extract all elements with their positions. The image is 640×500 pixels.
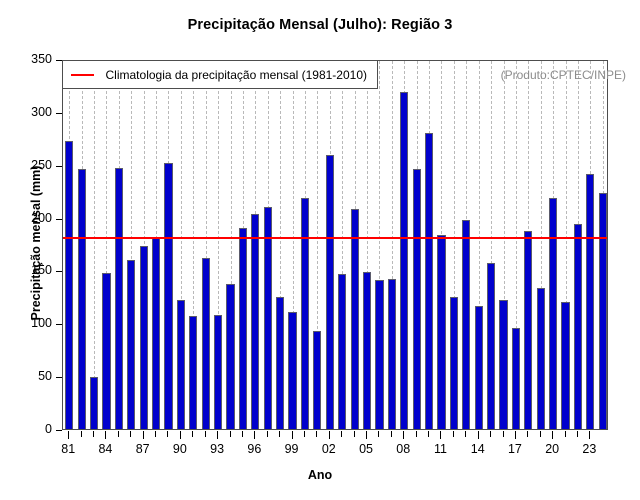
bar	[400, 92, 408, 429]
bar	[413, 169, 421, 429]
x-axis-tick	[130, 431, 131, 437]
bar	[351, 209, 359, 429]
x-axis-tick-label: 08	[388, 442, 418, 456]
x-axis-tick-label: 20	[537, 442, 567, 456]
x-axis-tick	[167, 431, 168, 437]
bar	[102, 273, 110, 429]
bar	[375, 280, 383, 429]
bar	[450, 297, 458, 429]
bar	[288, 312, 296, 429]
bar	[524, 231, 532, 429]
x-axis-tick	[242, 431, 243, 437]
x-axis-tick	[416, 431, 417, 437]
x-axis-tick	[155, 431, 156, 437]
x-axis-tick	[329, 431, 330, 439]
x-axis-tick	[105, 431, 106, 439]
bar	[140, 246, 148, 429]
y-axis-tick-label: 150	[0, 263, 52, 277]
x-axis-tick	[490, 431, 491, 437]
bar	[202, 258, 210, 429]
bar	[499, 300, 507, 429]
x-axis-tick	[93, 431, 94, 437]
x-axis-tick	[292, 431, 293, 439]
x-axis-tick	[217, 431, 218, 439]
y-axis-tick-label: 0	[0, 422, 52, 436]
plot-area	[62, 60, 608, 430]
bar	[462, 220, 470, 429]
bar	[586, 174, 594, 429]
x-axis-tick-label: 23	[574, 442, 604, 456]
x-axis-tick-label: 11	[425, 442, 455, 456]
x-axis-tick	[68, 431, 69, 439]
x-axis-tick	[589, 431, 590, 439]
bar	[189, 316, 197, 429]
bar	[425, 133, 433, 429]
bar	[78, 169, 86, 429]
bar	[437, 235, 445, 430]
x-axis-tick	[81, 431, 82, 437]
x-axis-tick-label: 14	[463, 442, 493, 456]
bar	[338, 274, 346, 429]
x-axis-tick-label: 17	[500, 442, 530, 456]
x-axis-tick	[304, 431, 305, 437]
bar	[239, 228, 247, 429]
legend: Climatologia da precipitação mensal (198…	[62, 60, 378, 89]
y-axis-title: Precipitação mensal (mm)	[29, 113, 43, 373]
x-axis-tick	[254, 431, 255, 439]
bar	[537, 288, 545, 429]
bar	[152, 238, 160, 429]
x-axis-tick	[527, 431, 528, 437]
x-axis-tick	[478, 431, 479, 439]
bar	[115, 168, 123, 429]
x-axis-tick-label: 02	[314, 442, 344, 456]
bar	[226, 284, 234, 429]
x-axis-tick	[428, 431, 429, 437]
x-axis-tick	[192, 431, 193, 437]
x-axis-tick	[180, 431, 181, 439]
x-axis-tick	[565, 431, 566, 437]
bar	[574, 224, 582, 429]
x-axis-tick	[118, 431, 119, 437]
x-axis-tick	[577, 431, 578, 437]
bar	[65, 141, 73, 429]
x-axis-tick	[391, 431, 392, 437]
x-axis-tick-label: 84	[90, 442, 120, 456]
bar	[127, 260, 135, 429]
precipitation-bar-chart: Precipitação Mensal (Julho): Região 3 Pr…	[0, 0, 640, 500]
x-axis-tick	[341, 431, 342, 437]
bar	[276, 297, 284, 429]
x-axis-tick-label: 99	[277, 442, 307, 456]
bar	[301, 198, 309, 430]
y-axis-tick-label: 200	[0, 211, 52, 225]
x-axis-tick	[354, 431, 355, 437]
x-axis-title: Ano	[0, 468, 640, 482]
climatology-reference-line	[63, 237, 607, 239]
x-axis-tick	[279, 431, 280, 437]
x-axis-tick	[230, 431, 231, 437]
page-title: Precipitação Mensal (Julho): Região 3	[0, 17, 640, 33]
x-axis-tick-label: 90	[165, 442, 195, 456]
x-axis-tick	[503, 431, 504, 437]
bar	[313, 331, 321, 429]
bar	[512, 328, 520, 429]
bar	[214, 315, 222, 429]
bar	[326, 155, 334, 429]
x-axis-tick	[515, 431, 516, 439]
x-axis-tick	[267, 431, 268, 437]
y-axis-tick-label: 50	[0, 369, 52, 383]
bar	[487, 263, 495, 429]
bar	[177, 300, 185, 429]
plot-inner	[63, 61, 607, 429]
x-axis-tick	[403, 431, 404, 439]
x-axis-tick	[205, 431, 206, 437]
bar	[363, 272, 371, 430]
x-axis-tick	[540, 431, 541, 437]
bar	[388, 279, 396, 429]
y-axis-tick	[56, 430, 62, 431]
bar	[264, 207, 272, 429]
x-axis-tick-label: 96	[239, 442, 269, 456]
bar	[90, 377, 98, 429]
bar	[164, 163, 172, 429]
x-axis-tick	[552, 431, 553, 439]
x-axis-tick	[316, 431, 317, 437]
x-axis-tick	[453, 431, 454, 437]
gridline	[94, 61, 95, 429]
x-axis-tick	[465, 431, 466, 437]
x-axis-tick-label: 05	[351, 442, 381, 456]
x-axis-tick-label: 93	[202, 442, 232, 456]
bar	[251, 214, 259, 429]
y-axis-tick-label: 350	[0, 52, 52, 66]
bar	[475, 306, 483, 429]
y-axis-tick-label: 250	[0, 158, 52, 172]
y-axis-tick-label: 100	[0, 316, 52, 330]
x-axis-tick	[378, 431, 379, 437]
x-axis-tick-label: 87	[128, 442, 158, 456]
bar	[549, 198, 557, 430]
legend-line-swatch	[71, 74, 94, 76]
attribution-text: (Produto:CPTEC/INPE)	[501, 68, 626, 82]
x-axis-tick-label: 81	[53, 442, 83, 456]
x-axis-tick	[143, 431, 144, 439]
x-axis-tick	[440, 431, 441, 439]
x-axis-tick	[366, 431, 367, 439]
bar	[599, 193, 607, 429]
legend-label: Climatologia da precipitação mensal (198…	[106, 68, 367, 82]
y-axis-tick-label: 300	[0, 105, 52, 119]
bar	[561, 302, 569, 429]
